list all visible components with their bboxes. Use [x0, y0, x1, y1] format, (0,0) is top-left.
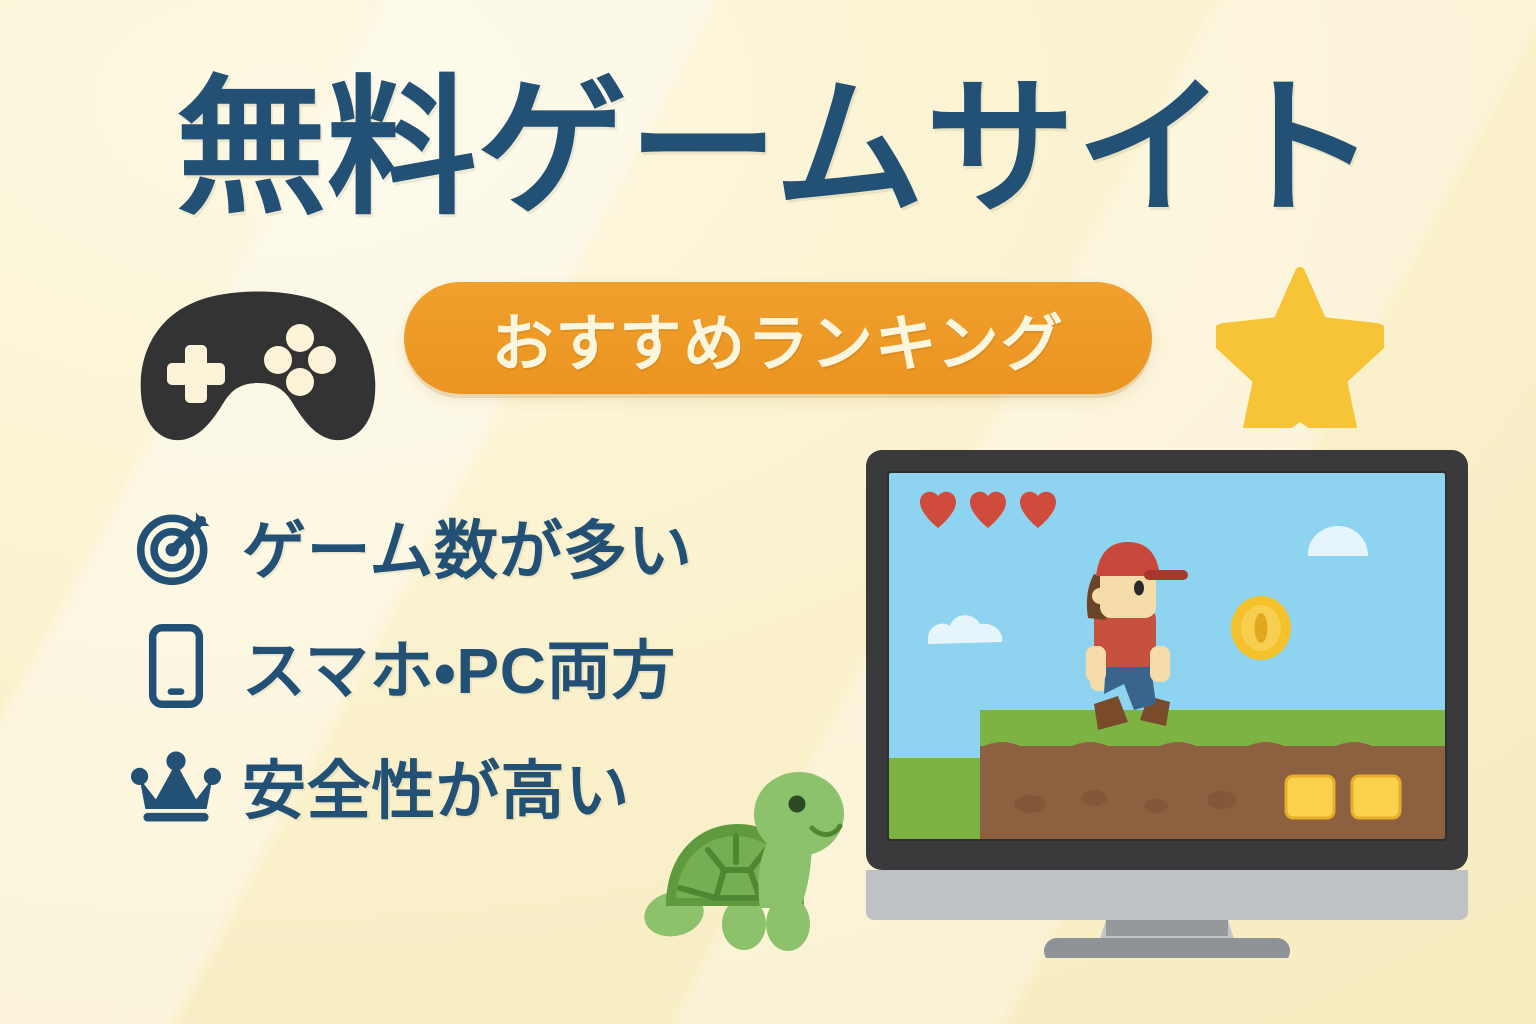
crown-icon — [128, 744, 224, 828]
gamepad-icon — [132, 282, 384, 450]
turtle-mascot-icon — [636, 766, 870, 966]
feature-item: ゲーム数が多い — [128, 486, 693, 606]
target-icon — [128, 504, 224, 588]
ranking-badge[interactable]: おすすめランキング — [404, 282, 1152, 394]
game-screen — [888, 472, 1450, 850]
feature-list: ゲーム数が多い スマホ・PC両方 安全性が高い — [128, 486, 693, 846]
desktop-monitor-icon — [862, 446, 1472, 958]
feature-label: スマホ・PC両方 — [242, 620, 676, 712]
star-icon — [1216, 266, 1384, 428]
hud-hearts — [920, 492, 1056, 528]
poster-canvas: 無料ゲームサイト おすすめランキング — [0, 0, 1536, 1024]
feature-label: ゲーム数が多い — [242, 500, 693, 592]
feature-item: スマホ・PC両方 — [128, 606, 693, 726]
page-title: 無料ゲームサイト — [176, 64, 1376, 232]
ranking-badge-label: おすすめランキング — [492, 293, 1065, 383]
coin — [1231, 596, 1291, 660]
feature-label: 安全性が高い — [242, 740, 630, 832]
smartphone-icon — [128, 624, 224, 708]
feature-item: 安全性が高い — [128, 726, 693, 846]
